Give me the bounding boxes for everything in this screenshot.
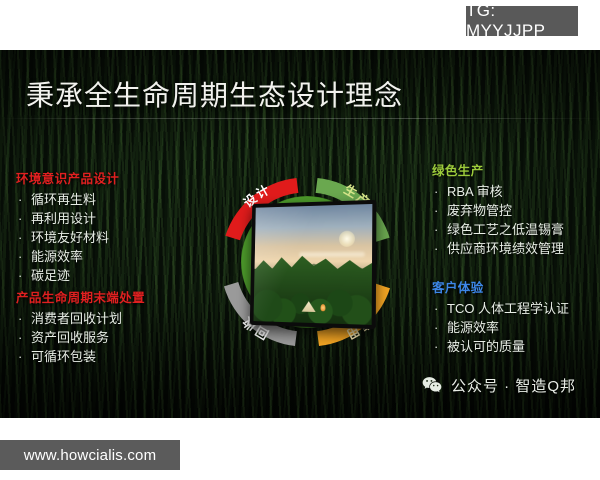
block-green-production: 绿色生产 ·RBA 审核 ·废弃物管控 ·绿色工艺之低温锡膏 ·供应商环境绩效管… — [432, 160, 564, 258]
monitor-glass-reflection — [253, 204, 372, 325]
list-item: ·能源效率 — [432, 318, 569, 337]
site-url-text: www.howcialis.com — [24, 447, 157, 464]
bullet-icon: · — [18, 209, 22, 228]
list-item: ·循环再生料 — [16, 190, 119, 209]
bullet-icon: · — [434, 182, 438, 201]
block-eco-design: 环境意识产品设计 ·循环再生料 ·再利用设计 ·环境友好材料 ·能源效率 ·碳足… — [16, 168, 119, 285]
wechat-credit: 公众号 · 智造Q邦 — [421, 374, 576, 396]
block-green-production-heading: 绿色生产 — [432, 160, 564, 179]
list-item-label: RBA 审核 — [447, 184, 503, 199]
list-item: ·供应商环境绩效管理 — [432, 239, 564, 258]
list-item-label: 废弃物管控 — [447, 203, 512, 218]
telegram-watermark-badge: TG: MYYJJPP — [466, 6, 578, 36]
block-eco-design-heading: 环境意识产品设计 — [16, 168, 119, 187]
list-item: ·碳足迹 — [16, 266, 119, 285]
list-item-label: 能源效率 — [31, 249, 83, 264]
wechat-credit-text: 公众号 · 智造Q邦 — [451, 375, 576, 396]
list-item-label: 绿色工艺之低温锡膏 — [447, 222, 564, 237]
list-item: ·TCO 人体工程学认证 — [432, 299, 569, 318]
list-item-label: 能源效率 — [447, 320, 499, 335]
list-item-label: 资产回收服务 — [31, 330, 109, 345]
wechat-icon — [421, 374, 443, 396]
bullet-icon: · — [18, 228, 22, 247]
telegram-watermark-text: TG: MYYJJPP — [466, 1, 578, 41]
block-end-of-life: 产品生命周期末端处置 ·消费者回收计划 ·资产回收服务 ·可循环包装 — [16, 287, 145, 366]
block-customer-experience-list: ·TCO 人体工程学认证 ·能源效率 ·被认可的质量 — [432, 299, 569, 356]
center-monitor-image — [250, 200, 377, 329]
block-eco-design-list: ·循环再生料 ·再利用设计 ·环境友好材料 ·能源效率 ·碳足迹 — [16, 190, 119, 285]
list-item-label: 消费者回收计划 — [31, 311, 122, 326]
bullet-icon: · — [434, 220, 438, 239]
bullet-icon: · — [18, 247, 22, 266]
bullet-icon: · — [18, 328, 22, 347]
list-item: ·消费者回收计划 — [16, 309, 145, 328]
slide-screenshot: TG: MYYJJPP 秉承全生命周期生态设计理念 环境意识产品设计 ·循环再生… — [0, 0, 600, 480]
block-end-of-life-heading: 产品生命周期末端处置 — [16, 287, 145, 306]
list-item: ·环境友好材料 — [16, 228, 119, 247]
list-item-label: 可循环包装 — [31, 349, 96, 364]
bullet-icon: · — [18, 309, 22, 328]
list-item-label: 循环再生料 — [31, 192, 96, 207]
list-item-label: 被认可的质量 — [447, 339, 525, 354]
list-item: ·能源效率 — [16, 247, 119, 266]
list-item: ·废弃物管控 — [432, 201, 564, 220]
list-item: ·被认可的质量 — [432, 337, 569, 356]
bullet-icon: · — [434, 201, 438, 220]
list-item-label: 再利用设计 — [31, 211, 96, 226]
list-item-label: 碳足迹 — [31, 268, 70, 283]
bullet-icon: · — [434, 239, 438, 258]
bullet-icon: · — [434, 318, 438, 337]
list-item: ·再利用设计 — [16, 209, 119, 228]
list-item-label: 环境友好材料 — [31, 230, 109, 245]
title-divider — [0, 118, 600, 119]
block-end-of-life-list: ·消费者回收计划 ·资产回收服务 ·可循环包装 — [16, 309, 145, 366]
bullet-icon: · — [18, 266, 22, 285]
bullet-icon: · — [434, 299, 438, 318]
page-title: 秉承全生命周期生态设计理念 — [26, 74, 403, 114]
list-item: ·RBA 审核 — [432, 182, 564, 201]
list-item: ·资产回收服务 — [16, 328, 145, 347]
block-customer-experience: 客户体验 ·TCO 人体工程学认证 ·能源效率 ·被认可的质量 — [432, 277, 569, 356]
list-item-label: TCO 人体工程学认证 — [447, 301, 569, 316]
bullet-icon: · — [18, 190, 22, 209]
site-url-watermark: www.howcialis.com — [0, 440, 180, 470]
list-item: ·绿色工艺之低温锡膏 — [432, 220, 564, 239]
list-item: ·可循环包装 — [16, 347, 145, 366]
list-item-label: 供应商环境绩效管理 — [447, 241, 564, 256]
bullet-icon: · — [434, 337, 438, 356]
block-customer-experience-heading: 客户体验 — [432, 277, 569, 296]
bullet-icon: · — [18, 347, 22, 366]
block-green-production-list: ·RBA 审核 ·废弃物管控 ·绿色工艺之低温锡膏 ·供应商环境绩效管理 — [432, 182, 564, 258]
